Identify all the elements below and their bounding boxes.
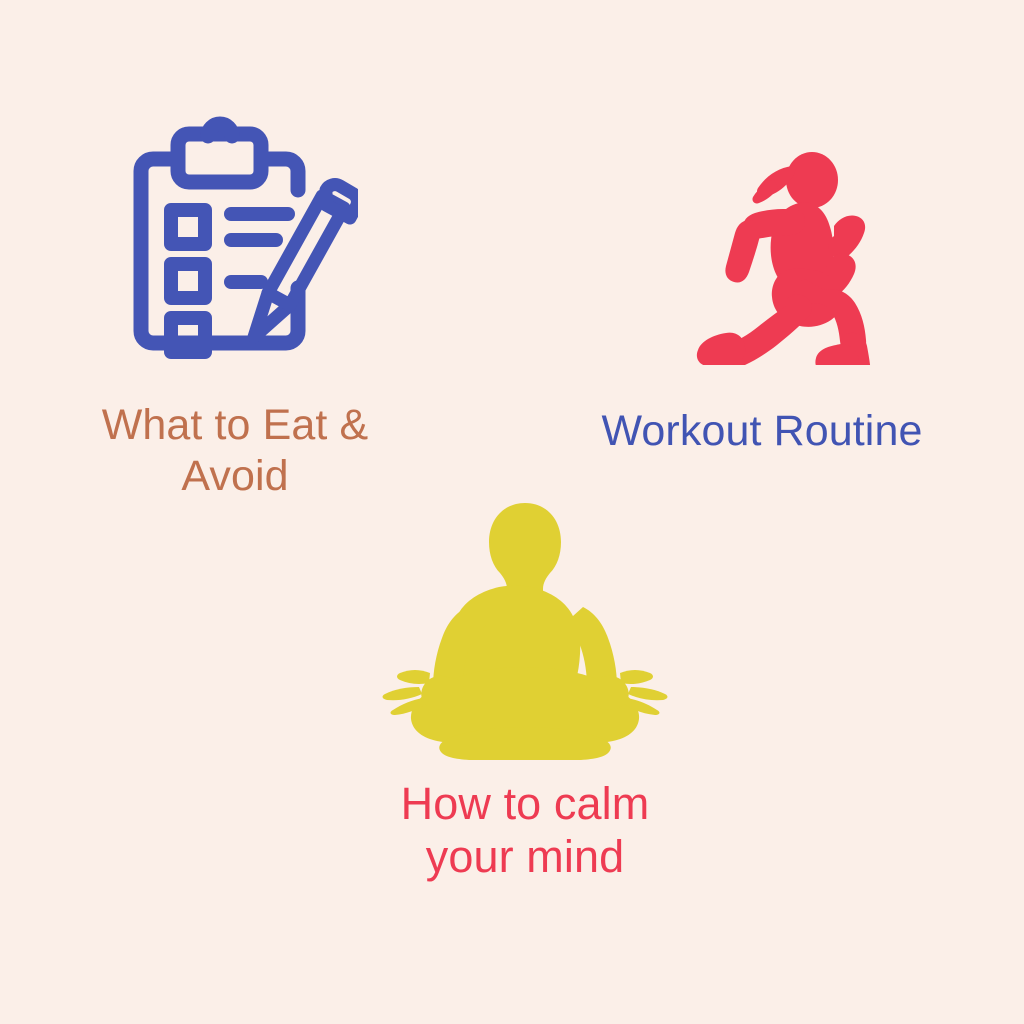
running-woman-icon <box>664 150 894 365</box>
meditating-person-lotus-icon <box>375 495 675 760</box>
card-what-to-eat-and-avoid[interactable]: What to Eat & Avoid <box>0 100 470 530</box>
poster-canvas: What to Eat & Avoid <box>0 0 1024 1024</box>
caption-how-to-calm-your-mind: How to calm your mind <box>320 777 730 883</box>
card-workout-routine[interactable]: Workout Routine <box>556 140 976 500</box>
clipboard-checklist-pencil-icon <box>118 112 358 362</box>
caption-what-to-eat-and-avoid: What to Eat & Avoid <box>35 400 435 501</box>
card-how-to-calm-your-mind[interactable]: How to calm your mind <box>320 495 730 915</box>
caption-workout-routine: Workout Routine <box>556 406 968 457</box>
